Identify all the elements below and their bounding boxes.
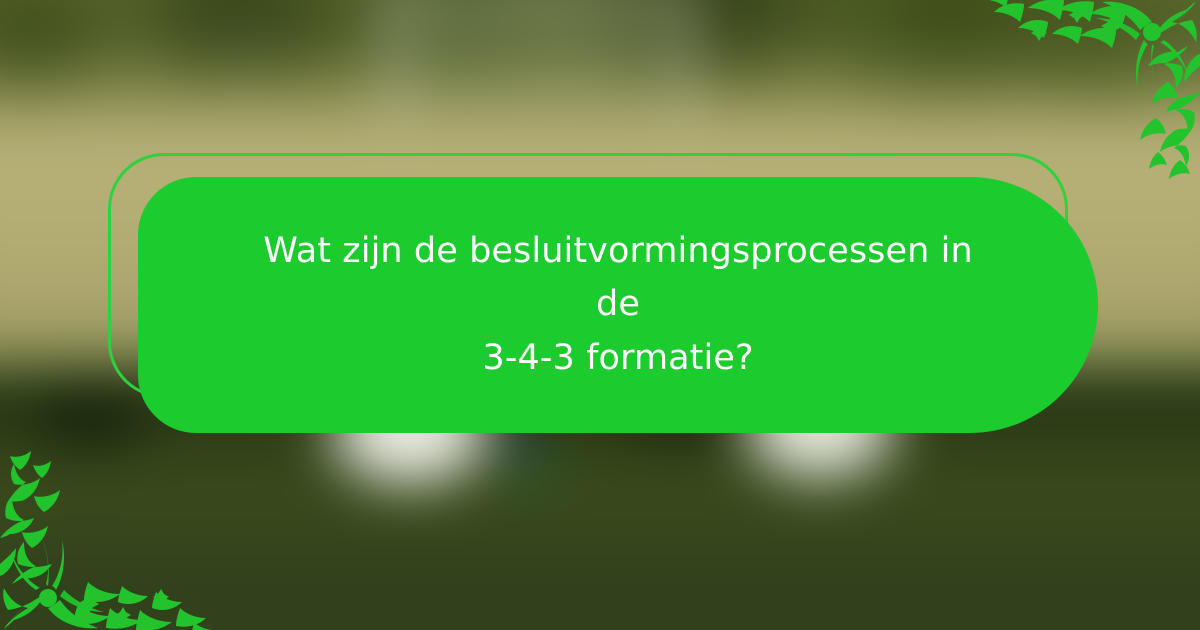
background-goal-left-post — [386, 0, 399, 120]
background-goal-net — [399, 4, 683, 120]
social-card-canvas: Wat zijn de besluitvormingsprocessen in … — [0, 0, 1200, 630]
question-card: Wat zijn de besluitvormingsprocessen in … — [138, 177, 1098, 433]
background-goal-crossbar — [380, 0, 702, 4]
background-goal-far-post — [240, 10, 249, 114]
background-goal-right-post — [682, 0, 695, 120]
question-title: Wat zijn de besluitvormingsprocessen in … — [238, 225, 998, 385]
